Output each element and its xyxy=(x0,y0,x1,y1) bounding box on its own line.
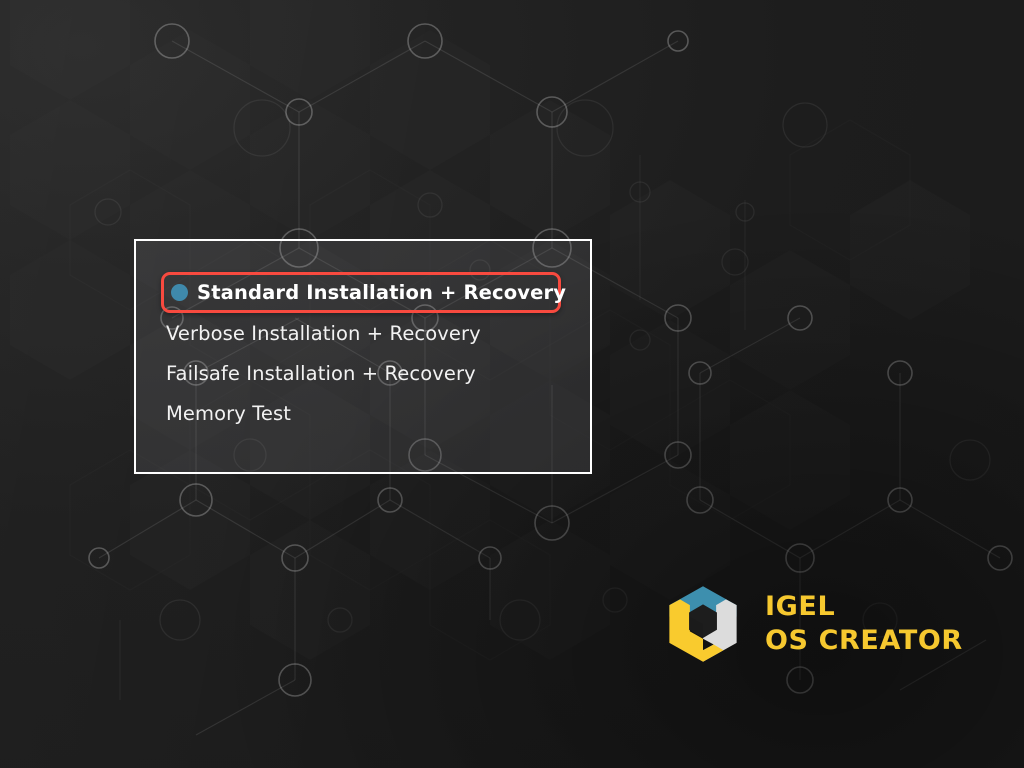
boot-menu-item-label: Memory Test xyxy=(166,404,291,424)
igel-hexagon-logo-icon xyxy=(662,583,744,665)
brand-text: IGEL OS CREATOR xyxy=(765,592,963,655)
boot-menu-item-failsafe-installation-recovery[interactable]: Failsafe Installation + Recovery xyxy=(164,357,476,391)
brand-lockup: IGEL OS CREATOR xyxy=(662,583,963,665)
boot-menu-item-label: Standard Installation + Recovery xyxy=(197,283,566,303)
boot-menu-list: Standard Installation + Recovery Verbose… xyxy=(136,241,590,472)
selected-bullet-icon xyxy=(171,284,188,301)
boot-menu-panel: Standard Installation + Recovery Verbose… xyxy=(134,239,592,474)
boot-menu-item-label: Failsafe Installation + Recovery xyxy=(166,364,476,384)
boot-menu-item-memory-test[interactable]: Memory Test xyxy=(164,397,291,431)
boot-menu-item-verbose-installation-recovery[interactable]: Verbose Installation + Recovery xyxy=(164,317,481,351)
brand-line-igel: IGEL xyxy=(765,592,963,622)
boot-menu-item-label: Verbose Installation + Recovery xyxy=(166,324,481,344)
brand-line-os-creator: OS CREATOR xyxy=(765,626,963,656)
boot-menu-item-standard-installation-recovery[interactable]: Standard Installation + Recovery xyxy=(161,272,561,313)
boot-screen: Standard Installation + Recovery Verbose… xyxy=(0,0,1024,768)
